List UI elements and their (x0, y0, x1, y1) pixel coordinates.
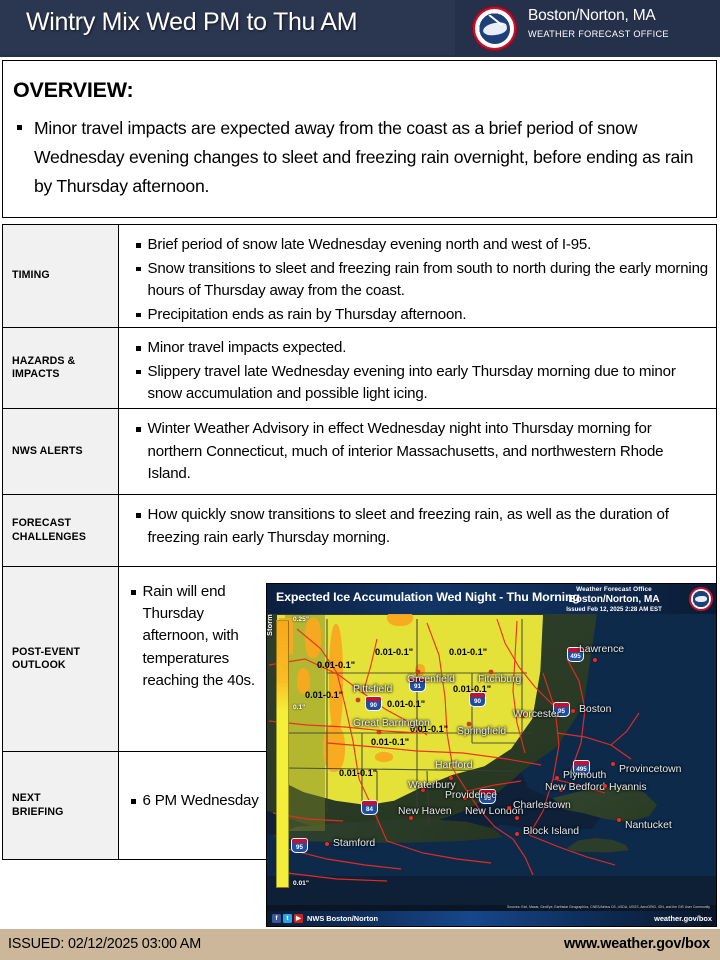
list-item: Precipitation ends as rain by Thursday a… (136, 304, 708, 327)
page-footer: ISSUED: 02/12/2025 03:00 AM www.weather.… (0, 929, 720, 960)
nws-seal-icon (689, 587, 713, 611)
list-item-text: Minor travel impacts expected. (148, 337, 709, 360)
ice-accum-label: 0.01-0.1" (305, 690, 343, 700)
list-item: 6 PM Wednesday (131, 790, 261, 812)
row-label-line1: POST-EVENT (12, 646, 80, 658)
city-label-providence: Providence (445, 790, 497, 801)
city-label-worcester: Worcester (513, 709, 560, 720)
city-label-provincetown: Provincetown (619, 764, 681, 775)
bullet-square-icon (136, 346, 141, 351)
bullet-square-icon (136, 427, 141, 432)
map-footer-name: NWS Boston/Norton (307, 914, 378, 923)
city-label-new-bedford: New Bedford (545, 782, 585, 794)
colorbar-tick: 0.25" (293, 616, 309, 623)
youtube-icon[interactable]: ▶ (294, 914, 303, 923)
row-label-line2: OUTLOOK (12, 659, 66, 671)
list-item-text: 6 PM Wednesday (143, 790, 262, 812)
nws-seal-icon (472, 6, 517, 51)
map-title: Expected Ice Accumulation Wed Night - Th… (276, 590, 580, 604)
list-item-text: Snow transitions to sleet and freezing r… (148, 258, 709, 303)
city-label-charlestown: Charlestown (513, 800, 571, 811)
row-label-timing: TIMING (3, 225, 119, 327)
table-row-forecast-challenges: FORECASTCHALLENGES How quickly snow tran… (2, 495, 717, 567)
facebook-icon[interactable]: f (272, 914, 281, 923)
list-item: Minor travel impacts expected. (136, 337, 708, 360)
page-header: Wintry Mix Wed PM to Thu AM Boston/Norto… (0, 0, 720, 57)
route-shield-icon: 90 (469, 692, 486, 707)
map-issued-time: Issued Feb 12, 2025 2:28 AM EST (550, 606, 678, 614)
social-icons: f t ▶ (272, 914, 303, 923)
colorbar (276, 620, 289, 888)
ice-accum-label: 0.01-0.1" (339, 768, 377, 778)
map-banner: Expected Ice Accumulation Wed Night - Th… (267, 584, 717, 614)
row-label-text: TIMING (12, 269, 50, 283)
bullet-square-icon (136, 513, 141, 518)
row-body-timing: Brief period of snow late Wednesday even… (119, 225, 716, 327)
route-shield-icon: 90 (365, 696, 382, 711)
map-roads-layer (267, 613, 717, 905)
seal-inner (480, 14, 510, 44)
list-item-text: Precipitation ends as rain by Thursday a… (148, 304, 709, 327)
footer-issued-time: ISSUED: 02/12/2025 03:00 AM (8, 936, 201, 952)
city-label-hartford: Hartford (435, 760, 473, 771)
city-label-boston: Boston (579, 704, 611, 715)
overview-text: Minor travel impacts are expected away f… (34, 114, 707, 201)
row-label-text: FORECASTCHALLENGES (12, 517, 86, 544)
row-label-line1: NEXT (12, 792, 41, 804)
page-title: Wintry Mix Wed PM to Thu AM (26, 8, 446, 37)
row-label-forecast-challenges: FORECASTCHALLENGES (3, 495, 119, 566)
list-item-text: Brief period of snow late Wednesday even… (148, 234, 709, 257)
twitter-icon[interactable]: t (283, 914, 292, 923)
bullet-square-icon (17, 125, 22, 130)
overview-bullet: Minor travel impacts are expected away f… (17, 114, 707, 201)
row-label-text: NWS ALERTS (12, 445, 83, 459)
list-item: How quickly snow transitions to sleet an… (136, 504, 708, 549)
list-item: Winter Weather Advisory in effect Wednes… (136, 418, 708, 486)
city-label-block-island: Block Island (523, 826, 559, 838)
bullet-square-icon (136, 243, 141, 248)
map-source-credit: Sources: Esri, Maxar, GeoEye, Earthstar … (507, 905, 710, 909)
row-body-post-event-outlook: Rain will end Thursday afternoon, with t… (119, 567, 267, 751)
row-body-nws-alerts: Winter Weather Advisory in effect Wednes… (119, 409, 716, 494)
city-label-hyannis: Hyannis (609, 782, 647, 793)
row-body-hazards: Minor travel impacts expected. Slippery … (119, 328, 716, 408)
header-office: Boston/Norton, MA WEATHER FORECAST OFFIC… (528, 6, 718, 41)
city-label-nantucket: Nantucket (625, 820, 672, 831)
row-label-line1: HAZARDS & (12, 355, 75, 367)
city-label-greenfield: Greenfield (407, 674, 455, 685)
city-label-plymouth: Plymouth (563, 770, 606, 781)
footer-url[interactable]: www.weather.gov/box (564, 936, 710, 952)
list-item: Brief period of snow late Wednesday even… (136, 234, 708, 257)
map-footer: f t ▶ NWS Boston/Norton weather.gov/box (267, 911, 717, 926)
city-label-stamford: Stamford (333, 838, 375, 849)
briefing-page: Wintry Mix Wed PM to Thu AM Boston/Norto… (0, 0, 720, 960)
colorbar-tick: 0.1" (293, 704, 305, 711)
table-row-hazards: HAZARDS &IMPACTS Minor travel impacts ex… (2, 328, 717, 409)
row-label-hazards: HAZARDS &IMPACTS (3, 328, 119, 408)
row-label-line2: CHALLENGES (12, 531, 86, 543)
overview-heading: OVERVIEW: (13, 78, 133, 103)
row-label-line2: IMPACTS (12, 368, 60, 380)
city-label-lawrence: Lawrence (579, 644, 624, 655)
row-label-text: NEXTBRIEFING (12, 792, 63, 819)
row-label-next-briefing: NEXTBRIEFING (3, 752, 119, 859)
list-item-text: How quickly snow transitions to sleet an… (148, 504, 709, 549)
bullet-square-icon (136, 313, 141, 318)
city-label-new-london: New London (465, 806, 505, 818)
overview-section: OVERVIEW: Minor travel impacts are expec… (2, 60, 717, 218)
list-item-text: Slippery travel late Wednesday evening i… (148, 361, 709, 406)
row-label-nws-alerts: NWS ALERTS (3, 409, 119, 494)
row-body-forecast-challenges: How quickly snow transitions to sleet an… (119, 495, 716, 566)
list-item: Snow transitions to sleet and freezing r… (136, 258, 708, 303)
row-label-line2: BRIEFING (12, 806, 63, 818)
city-label-fitchburg: Fitchburg (478, 674, 521, 685)
list-item: Slippery travel late Wednesday evening i… (136, 361, 708, 406)
bullet-square-icon (131, 799, 136, 804)
list-item-text: Winter Weather Advisory in effect Wednes… (148, 418, 709, 486)
city-label-pittsfield: Pittsfield (353, 684, 392, 695)
bullet-square-icon (131, 590, 136, 595)
map-office-name: Boston/Norton, MA (550, 594, 678, 606)
map-banner-office: Weather Forecast Office Boston/Norton, M… (550, 586, 678, 614)
row-label-line1: FORECAST (12, 517, 71, 529)
colorbar-tick: 0.01" (293, 880, 309, 887)
list-item: Rain will end Thursday afternoon, with t… (131, 581, 261, 692)
ice-accum-label: 0.01-0.1" (387, 699, 425, 709)
list-item-text: Rain will end Thursday afternoon, with t… (143, 581, 262, 692)
row-label-text: POST-EVENTOUTLOOK (12, 646, 80, 673)
row-label-text: HAZARDS &IMPACTS (12, 355, 75, 382)
office-subtitle: WEATHER FORECAST OFFICE (528, 27, 718, 41)
table-row-timing: TIMING Brief period of snow late Wednesd… (2, 224, 717, 328)
ice-accum-label: 0.01-0.1" (449, 647, 487, 657)
route-shield-icon: 95 (291, 838, 308, 853)
ice-accum-label: 0.01-0.1" (375, 647, 413, 657)
bullet-square-icon (136, 370, 141, 375)
ice-accum-label: 0.01-0.1" (317, 660, 355, 670)
city-label-springfield: Springfield (457, 726, 506, 737)
table-row-nws-alerts: NWS ALERTS Winter Weather Advisory in ef… (2, 409, 717, 495)
row-body-next-briefing: 6 PM Wednesday (119, 752, 267, 859)
city-label-great-barrington: Great Barrington (353, 718, 413, 730)
map-footer-url[interactable]: weather.gov/box (654, 914, 712, 923)
map-office-label: Weather Forecast Office (550, 586, 678, 594)
ice-accum-label: 0.01-0.1" (371, 737, 409, 747)
bullet-square-icon (136, 267, 141, 272)
route-shield-icon: 84 (361, 800, 378, 815)
ice-accumulation-map: Storm Total Ice Accumulation (in) 0.25" … (266, 583, 717, 927)
header-title-box: Wintry Mix Wed PM to Thu AM (0, 0, 455, 55)
row-label-post-event-outlook: POST-EVENTOUTLOOK (3, 567, 119, 751)
office-name: Boston/Norton, MA (528, 6, 718, 25)
city-label-new-haven: New Haven (398, 806, 440, 818)
